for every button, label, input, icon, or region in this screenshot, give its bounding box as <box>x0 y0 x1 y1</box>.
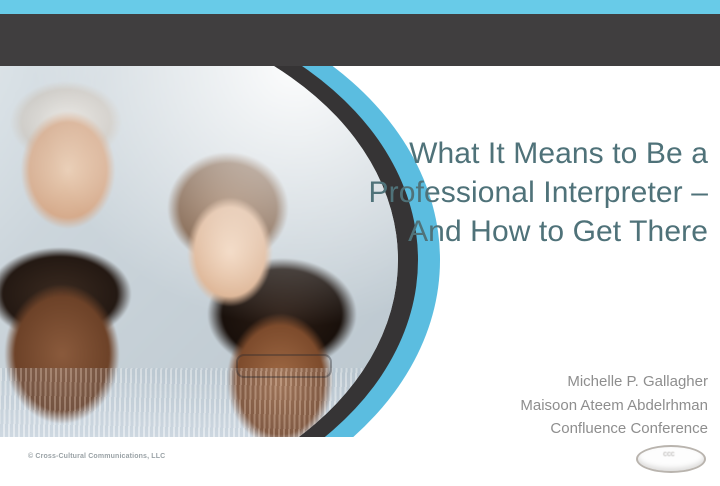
title-slide: What It Means to Be a Professional Inter… <box>0 0 720 486</box>
logo-oval-shape <box>636 445 706 473</box>
copyright-notice: © Cross-Cultural Communications, LLC <box>28 453 165 460</box>
slide-body: What It Means to Be a Professional Inter… <box>0 66 720 437</box>
top-accent-band <box>0 0 720 14</box>
slide-footer: © Cross-Cultural Communications, LLC CCC <box>0 437 720 486</box>
conference-name: Confluence Conference <box>288 417 708 437</box>
company-logo: CCC <box>636 441 702 473</box>
presenter-block: Michelle P. Gallagher Maisoon Ateem Abde… <box>288 370 708 437</box>
slide-title: What It Means to Be a Professional Inter… <box>248 134 708 251</box>
logo-label: CCC <box>636 452 702 458</box>
header-dark-bar <box>0 14 720 66</box>
presenter-name-primary: Michelle P. Gallagher <box>288 370 708 394</box>
presenter-name-secondary: Maisoon Ateem Abdelrhman <box>288 394 708 418</box>
